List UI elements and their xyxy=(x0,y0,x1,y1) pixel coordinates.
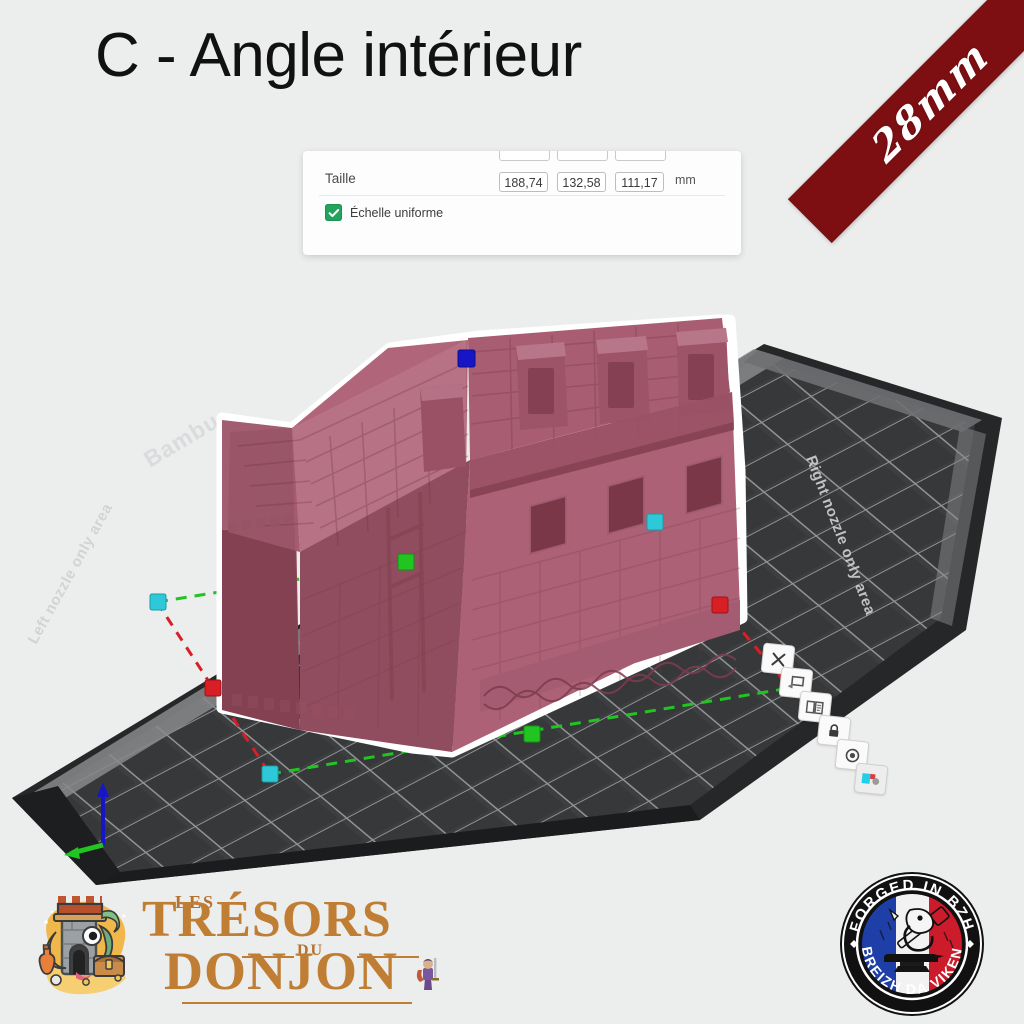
scale-ribbon-28mm: 28mm xyxy=(788,0,1024,243)
size-unit-label: mm xyxy=(675,173,696,187)
handle-axis-y-front xyxy=(524,726,540,742)
size-y-input[interactable]: 132,58 xyxy=(557,172,606,192)
size-z-input[interactable]: 111,17 xyxy=(615,172,664,192)
brand-donjon: DONJON xyxy=(164,944,398,998)
bed-brand-label: Bambu xyxy=(139,407,223,472)
object-toolbar[interactable] xyxy=(762,644,932,794)
brand-rule-bottom xyxy=(182,1002,412,1004)
uniform-scale-checkbox[interactable] xyxy=(325,204,342,221)
color-paint-icon xyxy=(860,770,881,787)
settings-icon xyxy=(843,746,862,765)
brand-tresors: TRÉSORS xyxy=(142,894,392,946)
panel-divider xyxy=(319,195,725,196)
copy-icon xyxy=(805,699,824,716)
3d-viewport[interactable]: Bambu Left nozzle only area Right nozzle… xyxy=(0,300,1024,900)
clipped-field-z xyxy=(615,151,666,161)
handle-axis-y-back xyxy=(398,554,414,570)
handle-corner-left xyxy=(150,594,166,610)
delete-icon xyxy=(769,650,788,669)
color-paint-icon-button[interactable] xyxy=(854,762,889,795)
arrange-icon xyxy=(786,674,806,692)
handle-axis-x-right xyxy=(712,597,728,613)
clipped-field-x xyxy=(499,151,550,161)
handle-corner-front xyxy=(262,766,278,782)
handle-axis-z-top xyxy=(458,350,475,367)
uniform-scale-label: Échelle uniforme xyxy=(350,206,443,220)
left-nozzle-label: Left nozzle only area xyxy=(25,500,117,647)
screenshot-root: C - Angle intérieur 28mm Taille 188,74 1… xyxy=(0,0,1024,1024)
size-row-label: Taille xyxy=(325,171,356,186)
lock-icon xyxy=(825,722,843,740)
dungeon-tower-mascot-icon xyxy=(32,882,136,998)
page-title: C - Angle intérieur xyxy=(95,23,582,88)
knight-figure-icon xyxy=(414,954,442,992)
handle-corner-top-right xyxy=(647,514,663,530)
scale-settings-panel: Taille 188,74 132,58 111,17 mm Échelle u… xyxy=(303,151,741,255)
clipped-input-row xyxy=(303,151,741,153)
brand-logo: LES TRÉSORS DU DONJON xyxy=(32,878,422,1004)
size-row: Taille 188,74 132,58 111,17 mm xyxy=(303,161,741,195)
printer-bed[interactable]: Bambu Left nozzle only area Right nozzle… xyxy=(0,300,1024,900)
size-x-input[interactable]: 188,74 xyxy=(499,172,548,192)
clipped-field-y xyxy=(557,151,608,161)
ribbon-label: 28mm xyxy=(863,30,996,173)
handle-axis-x-left xyxy=(205,680,221,696)
forged-in-bzh-badge: FORGED IN BZH BREIZH DA VIKEN xyxy=(836,868,988,1020)
uniform-scale-row[interactable]: Échelle uniforme xyxy=(325,204,443,221)
